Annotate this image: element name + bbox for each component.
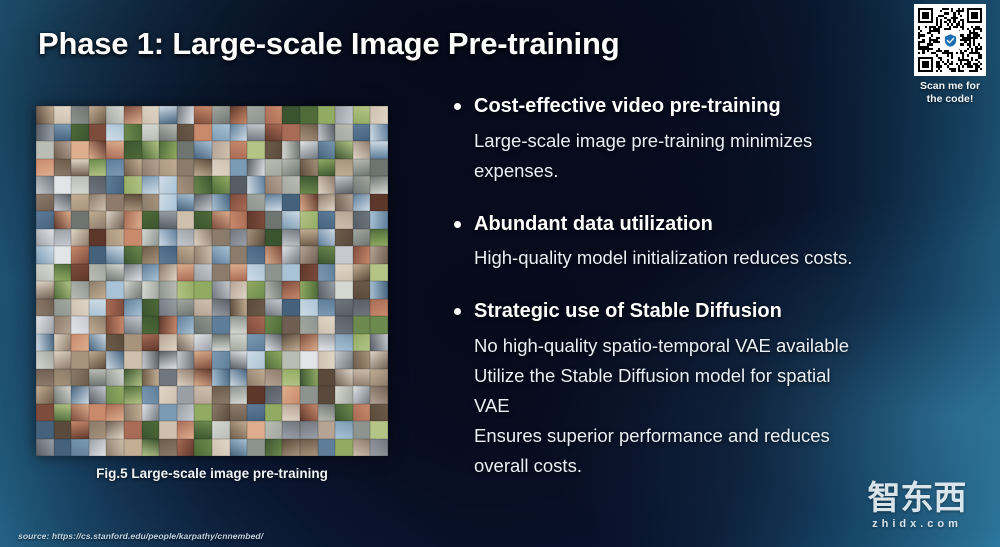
bullet-body: Large-scale image pre-training minimizes…: [452, 126, 957, 186]
bullet-body-line: Large-scale image pre-training minimizes: [474, 126, 957, 156]
bullet-body-line: Ensures superior performance and reduces: [474, 421, 957, 451]
bullet-body-line: High-quality model initialization reduce…: [474, 243, 957, 273]
bullet-heading: Cost-effective video pre-training: [452, 94, 957, 120]
bullet-body-line: VAE: [474, 391, 957, 421]
bullet-dot-icon: [454, 308, 461, 315]
qr-caption-line2: the code!: [908, 93, 992, 106]
bullet-dot-icon: [454, 221, 461, 228]
bullet-heading-text: Strategic use of Stable Diffusion: [474, 300, 782, 322]
bullet-group-3: Strategic use of Stable Diffusion No hig…: [452, 299, 957, 480]
qr-code-icon[interactable]: [914, 4, 986, 76]
figure-block: Fig.5 Large-scale image pre-training: [36, 106, 388, 481]
bullet-group-2: Abundant data utilization High-quality m…: [452, 212, 957, 274]
slide-title: Phase 1: Large-scale Image Pre-training: [38, 26, 619, 62]
bullet-body-line: No high-quality spatio-temporal VAE avai…: [474, 331, 957, 361]
bullet-dot-icon: [454, 103, 461, 110]
image-thumbnail-grid: [36, 106, 388, 456]
bullet-body-line: Utilize the Stable Diffusion model for s…: [474, 361, 957, 391]
bullet-list: Cost-effective video pre-training Large-…: [452, 94, 957, 481]
bullet-heading-text: Abundant data utilization: [474, 213, 713, 235]
slide-canvas: Phase 1: Large-scale Image Pre-training …: [0, 0, 1000, 547]
bullet-heading: Abundant data utilization: [452, 212, 957, 238]
bullet-body: High-quality model initialization reduce…: [452, 243, 957, 273]
qr-block[interactable]: Scan me for the code!: [908, 4, 992, 106]
bullet-body-line: expenses.: [474, 156, 957, 186]
bullet-heading: Strategic use of Stable Diffusion: [452, 299, 957, 325]
qr-center-logo-icon: [940, 30, 960, 50]
bullet-body-line: overall costs.: [474, 451, 957, 481]
qr-caption: Scan me for the code!: [908, 80, 992, 106]
bullet-body: No high-quality spatio-temporal VAE avai…: [452, 331, 957, 481]
bullet-heading-text: Cost-effective video pre-training: [474, 95, 781, 117]
qr-caption-line1: Scan me for: [908, 80, 992, 93]
source-note: source: https://cs.stanford.edu/people/k…: [18, 531, 263, 541]
bullet-group-1: Cost-effective video pre-training Large-…: [452, 94, 957, 186]
figure-caption: Fig.5 Large-scale image pre-training: [36, 466, 388, 481]
